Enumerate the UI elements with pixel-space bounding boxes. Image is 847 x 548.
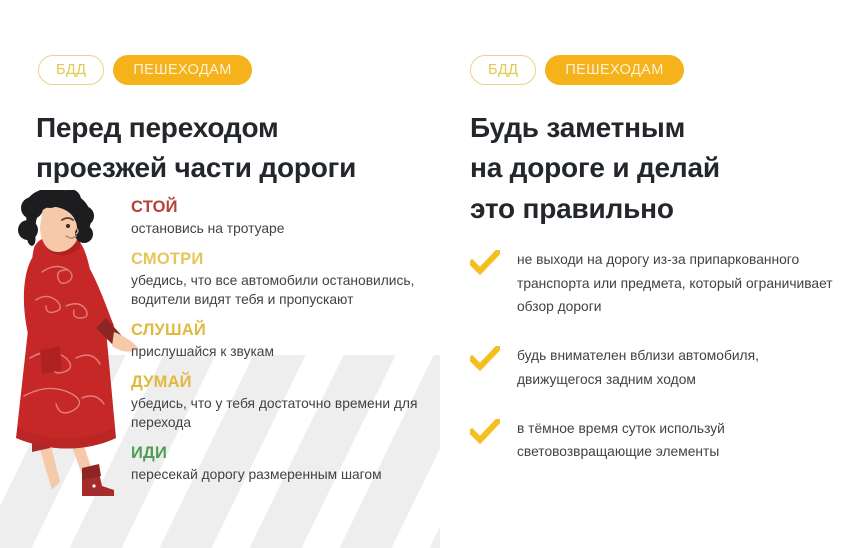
step-description: пересекай дорогу размеренным шагом [131,465,441,484]
right-card: БДД ПЕШЕХОДАМ Будь заметным на дороге и … [440,0,847,548]
step-item: СТОЙ остановись на тротуаре [131,198,441,238]
left-title-line-1: Перед переходом [36,108,436,148]
step-description: прислушайся к звукам [131,342,441,361]
right-title-line-3: это правильно [470,189,847,229]
step-title: СТОЙ [131,198,441,217]
left-card: БДД ПЕШЕХОДАМ Перед переходом проезжей ч… [0,0,440,548]
badge-bdd[interactable]: БДД [470,55,536,85]
walking-woman-illustration [2,190,144,510]
checklist-item: в тёмное время суток используй световозв… [470,417,845,464]
checklist-text: в тёмное время суток используй световозв… [517,417,845,464]
step-title: СМОТРИ [131,250,441,269]
left-page-title: Перед переходом проезжей части дороги [36,108,436,189]
left-title-line-2: проезжей части дороги [36,148,436,188]
step-item: СМОТРИ убедись, что все автомобили остан… [131,250,441,309]
step-title: ИДИ [131,444,441,463]
badge-pedestrians[interactable]: ПЕШЕХОДАМ [545,55,683,85]
right-title-line-2: на дороге и делай [470,148,847,188]
badge-pedestrians[interactable]: ПЕШЕХОДАМ [113,55,251,85]
left-badge-row: БДД ПЕШЕХОДАМ [38,55,252,85]
checklist-item: будь внимателен вблизи автомобиля, движу… [470,344,845,391]
step-title: ДУМАЙ [131,373,441,392]
step-description: убедись, что все автомобили остановились… [131,271,441,309]
step-item: ДУМАЙ убедись, что у тебя достаточно вре… [131,373,441,432]
road-safety-infographic: БДД ПЕШЕХОДАМ Перед переходом проезжей ч… [0,0,847,548]
safety-steps-list: СТОЙ остановись на тротуаре СМОТРИ убеди… [131,198,441,484]
badge-bdd[interactable]: БДД [38,55,104,85]
check-icon [470,346,500,372]
right-title-line-1: Будь заметным [470,108,847,148]
safety-checklist: не выходи на дорогу из-за припаркованног… [470,248,845,464]
checklist-text: будь внимателен вблизи автомобиля, движу… [517,344,845,391]
checklist-item: не выходи на дорогу из-за припаркованног… [470,248,845,319]
step-description: убедись, что у тебя достаточно времени д… [131,394,441,432]
right-badge-row: БДД ПЕШЕХОДАМ [470,55,684,85]
step-item: СЛУШАЙ прислушайся к звукам [131,321,441,361]
step-item: ИДИ пересекай дорогу размеренным шагом [131,444,441,484]
step-title: СЛУШАЙ [131,321,441,340]
right-page-title: Будь заметным на дороге и делай это прав… [470,108,847,229]
step-description: остановись на тротуаре [131,219,441,238]
check-icon [470,419,500,445]
checklist-text: не выходи на дорогу из-за припаркованног… [517,248,845,319]
check-icon [470,250,500,276]
